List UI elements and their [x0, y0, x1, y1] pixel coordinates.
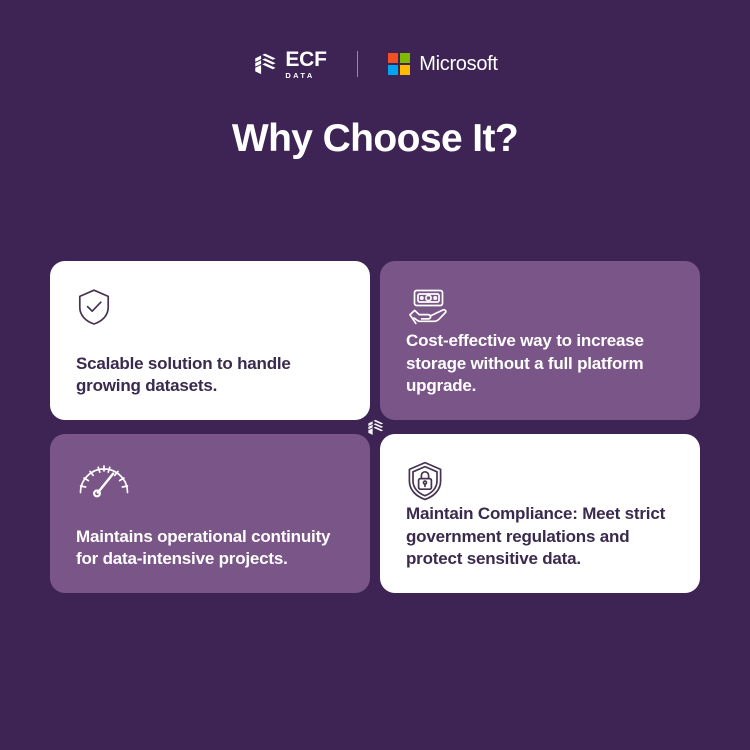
shield-check-icon	[76, 287, 112, 327]
card-icon-wrap	[406, 460, 674, 500]
slide-canvas: ECF DATA Microsoft Why Choose It?	[0, 0, 750, 750]
ecf-data-logo: ECF DATA	[252, 49, 326, 80]
ecf-layers-logo-icon	[252, 51, 278, 77]
logo-divider	[357, 51, 359, 77]
card-text: Maintains operational continuity for dat…	[76, 526, 344, 571]
microsoft-square-blue	[388, 65, 398, 75]
card-icon-wrap	[406, 287, 674, 327]
page-title: Why Choose It?	[0, 117, 750, 161]
ecf-wordmark: ECF DATA	[285, 49, 326, 80]
microsoft-wordmark: Microsoft	[419, 53, 497, 76]
ecf-logo-subtitle: DATA	[285, 72, 314, 80]
microsoft-square-yellow	[400, 65, 410, 75]
card-text: Maintain Compliance: Meet strict governm…	[406, 503, 674, 571]
shield-lock-icon	[406, 460, 444, 502]
microsoft-square-green	[400, 53, 410, 63]
card-text: Scalable solution to handle growing data…	[76, 353, 344, 398]
card-text: Cost-effective way to increase storage w…	[406, 330, 674, 398]
card-icon-wrap	[76, 460, 344, 500]
logo-bar: ECF DATA Microsoft	[0, 44, 750, 84]
benefit-card-cost-effective: Cost-effective way to increase storage w…	[380, 261, 700, 420]
microsoft-square-red	[388, 53, 398, 63]
gauge-speedometer-icon	[76, 460, 132, 498]
microsoft-squares-icon	[388, 53, 410, 75]
microsoft-logo: Microsoft	[388, 53, 497, 76]
benefit-card-operational-continuity: Maintains operational continuity for dat…	[50, 434, 370, 593]
ecf-layers-watermark-icon	[366, 418, 385, 437]
benefit-card-compliance: Maintain Compliance: Meet strict governm…	[380, 434, 700, 593]
money-in-hand-icon	[406, 287, 450, 327]
card-icon-wrap	[76, 287, 344, 327]
ecf-logo-name: ECF	[285, 49, 326, 70]
benefit-card-scalable: Scalable solution to handle growing data…	[50, 261, 370, 420]
